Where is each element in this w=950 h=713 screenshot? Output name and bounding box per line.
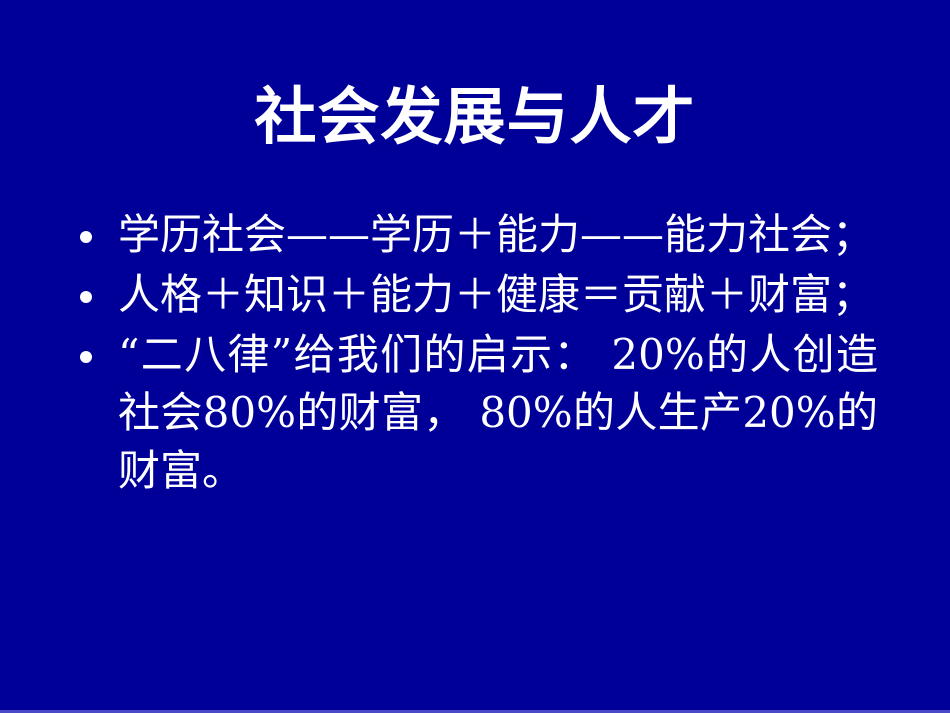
bullet-marker-icon [72, 266, 118, 307]
presentation-slide: 社会发展与人才 学历社会——学历＋能力——能力社会； 人格＋知识＋能力＋健康＝贡… [0, 0, 950, 713]
bullet-dot-icon [80, 351, 92, 363]
bullet-marker-icon [72, 206, 118, 247]
bullet-text-2: 人格＋知识＋能力＋健康＝贡献＋财富； [118, 266, 878, 324]
bullet-text-1: 学历社会——学历＋能力——能力社会； [118, 206, 878, 264]
list-item: 人格＋知识＋能力＋健康＝贡献＋财富； [72, 266, 878, 324]
bullet-dot-icon [80, 291, 92, 303]
bullet-marker-icon [72, 326, 118, 367]
bullet-list: 学历社会——学历＋能力——能力社会； 人格＋知识＋能力＋健康＝贡献＋财富； “二… [72, 206, 878, 502]
bullet-dot-icon [80, 231, 92, 243]
bullet-text-3: “二八律”给我们的启示： 20%的人创造社会80%的财富， 80%的人生产20%… [118, 326, 878, 500]
list-item: “二八律”给我们的启示： 20%的人创造社会80%的财富， 80%的人生产20%… [72, 326, 878, 500]
list-item: 学历社会——学历＋能力——能力社会； [72, 206, 878, 264]
page-title: 社会发展与人才 [0, 84, 950, 150]
